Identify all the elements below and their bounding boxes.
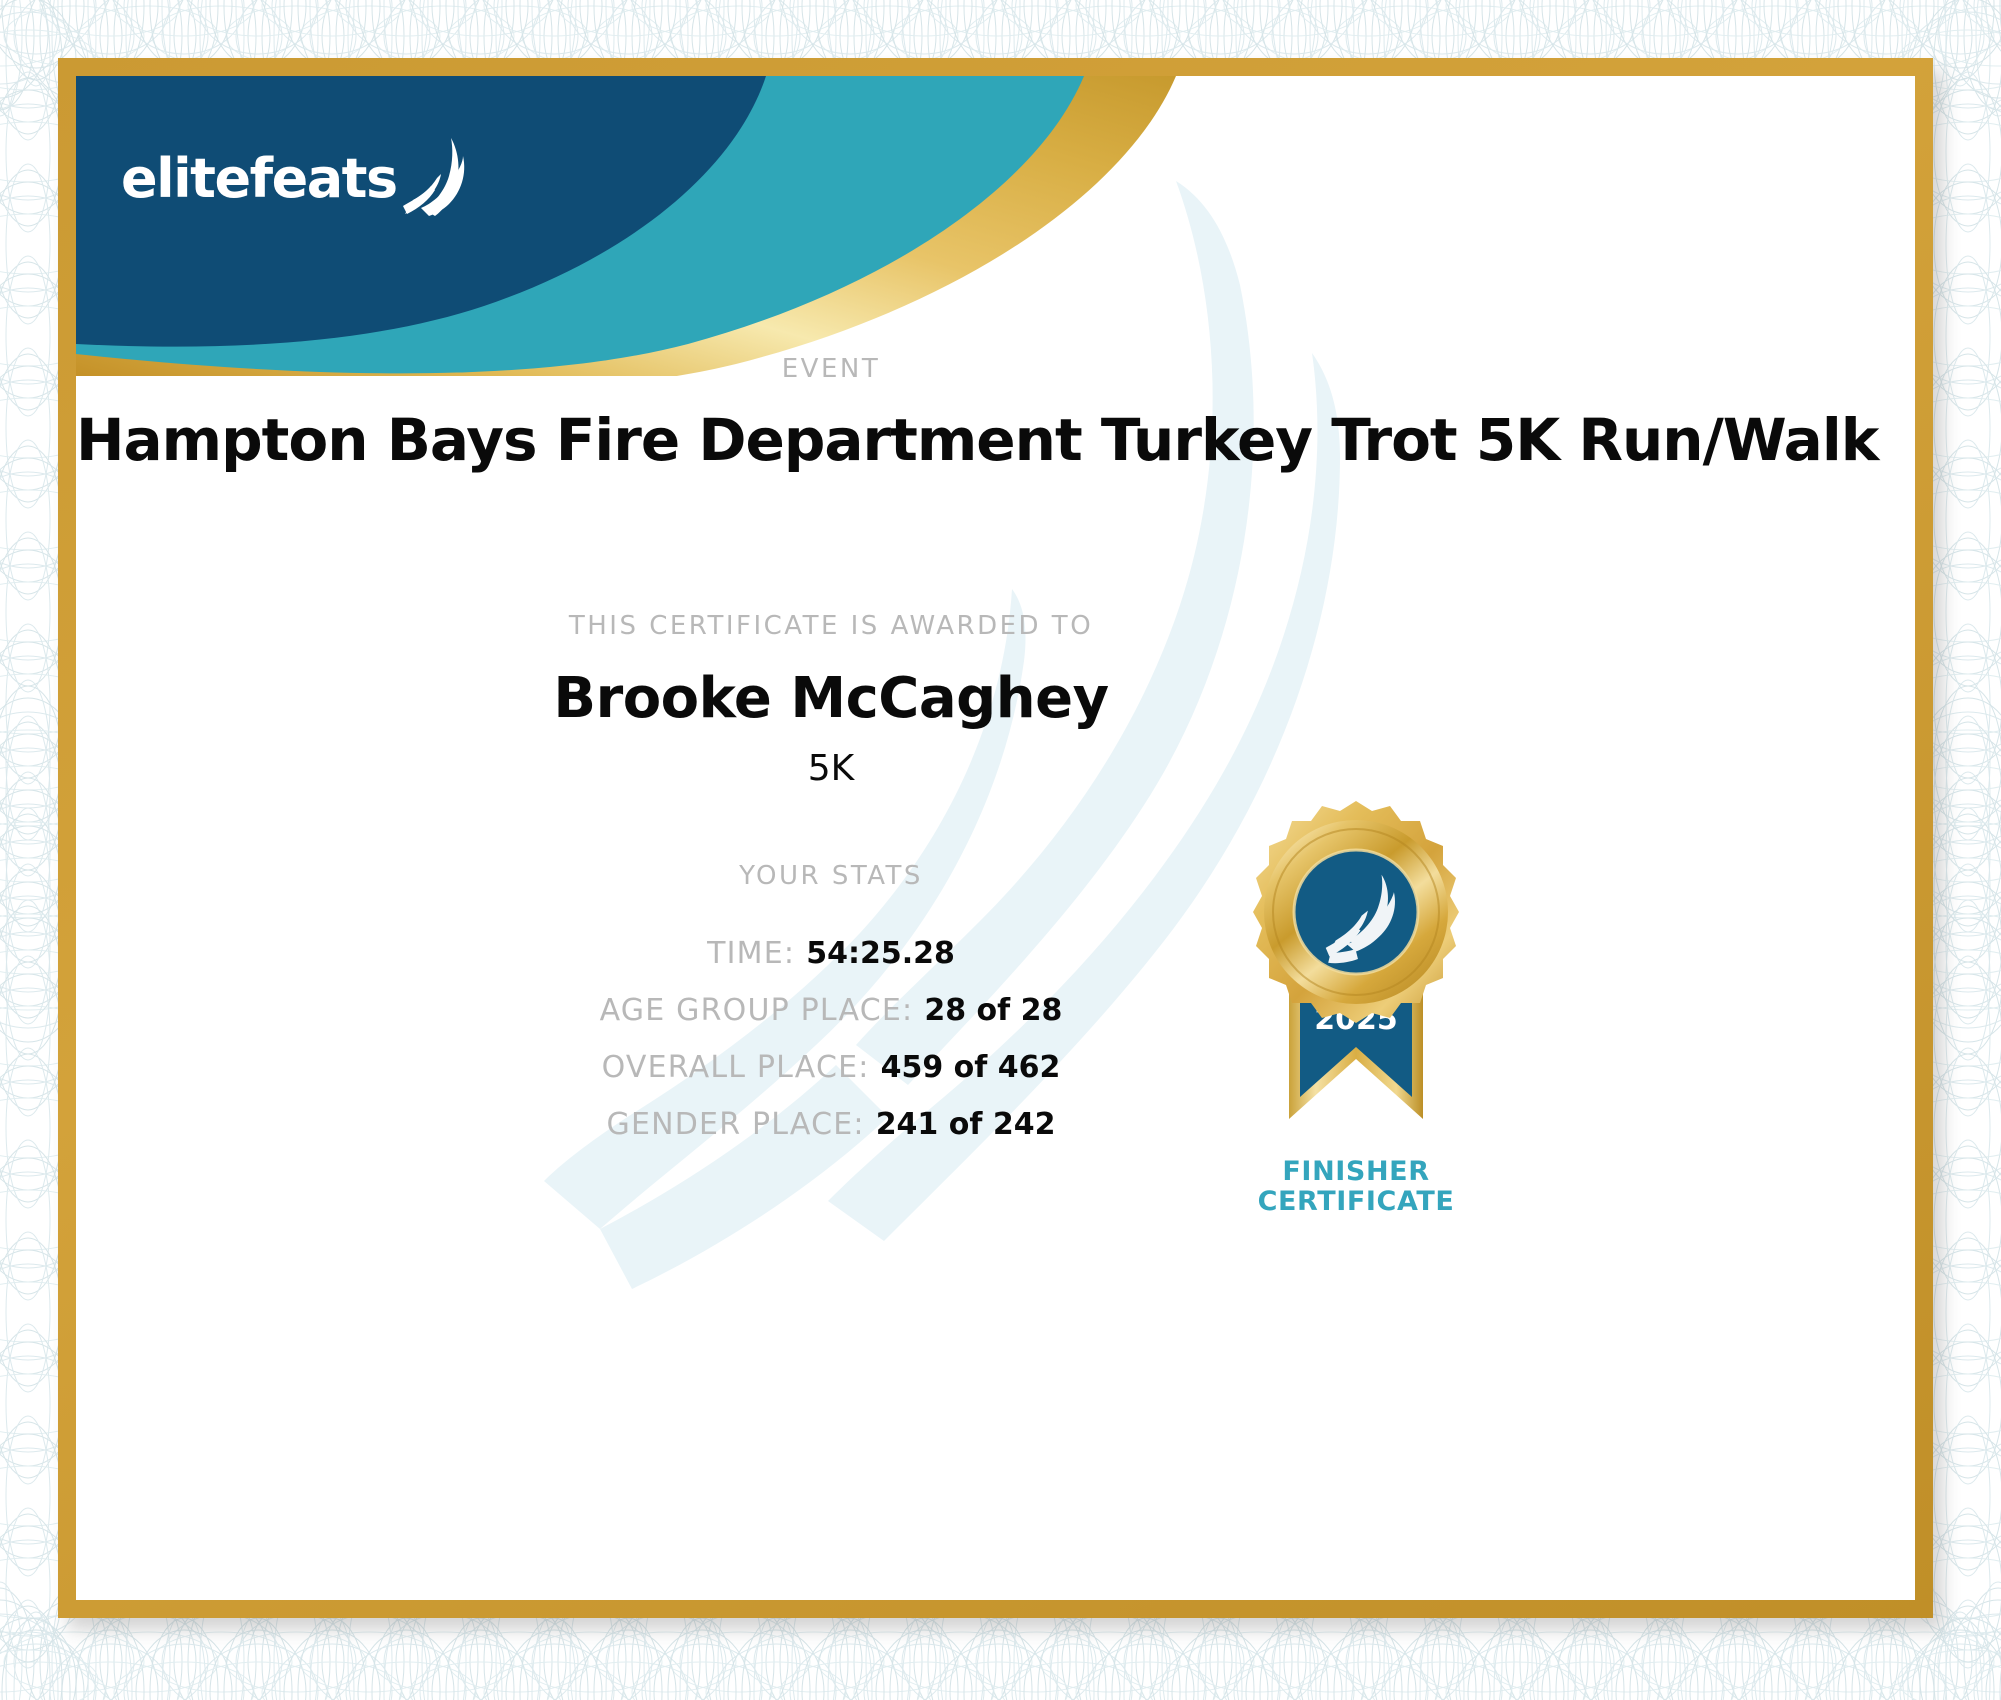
stat-value: 28 of 28 bbox=[924, 993, 1062, 1028]
seal-caption-line2: CERTIFICATE bbox=[1211, 1187, 1501, 1217]
stat-key: TIME: bbox=[707, 936, 795, 971]
stat-value: 241 of 242 bbox=[876, 1107, 1056, 1142]
finisher-seal: 2025 bbox=[1211, 801, 1501, 1241]
stat-value: 459 of 462 bbox=[881, 1050, 1061, 1085]
certificate-content: EVENT Hampton Bays Fire Department Turke… bbox=[76, 76, 1915, 1600]
certificate-gold-border: elitefeats EVENT Hampton Bays Fire Depar… bbox=[58, 58, 1933, 1618]
stat-key: AGE GROUP PLACE: bbox=[600, 993, 914, 1028]
seal-caption: FINISHER CERTIFICATE bbox=[1211, 1157, 1501, 1217]
stat-key: GENDER PLACE: bbox=[607, 1107, 865, 1142]
seal-caption-line1: FINISHER bbox=[1211, 1157, 1501, 1187]
event-title: Hampton Bays Fire Department Turkey Trot… bbox=[76, 406, 1866, 474]
stat-key: OVERALL PLACE: bbox=[602, 1050, 870, 1085]
certificate-card: elitefeats EVENT Hampton Bays Fire Depar… bbox=[76, 76, 1915, 1600]
winged-foot-medal-icon: 2025 bbox=[1211, 801, 1501, 1151]
stat-value: 54:25.28 bbox=[806, 936, 955, 971]
race-distance: 5K bbox=[76, 748, 1586, 789]
awarded-to-label: THIS CERTIFICATE IS AWARDED TO bbox=[76, 611, 1586, 641]
event-label: EVENT bbox=[76, 354, 1586, 384]
recipient-name: Brooke McCaghey bbox=[76, 666, 1586, 731]
certificate-page: elitefeats EVENT Hampton Bays Fire Depar… bbox=[0, 0, 2001, 1700]
